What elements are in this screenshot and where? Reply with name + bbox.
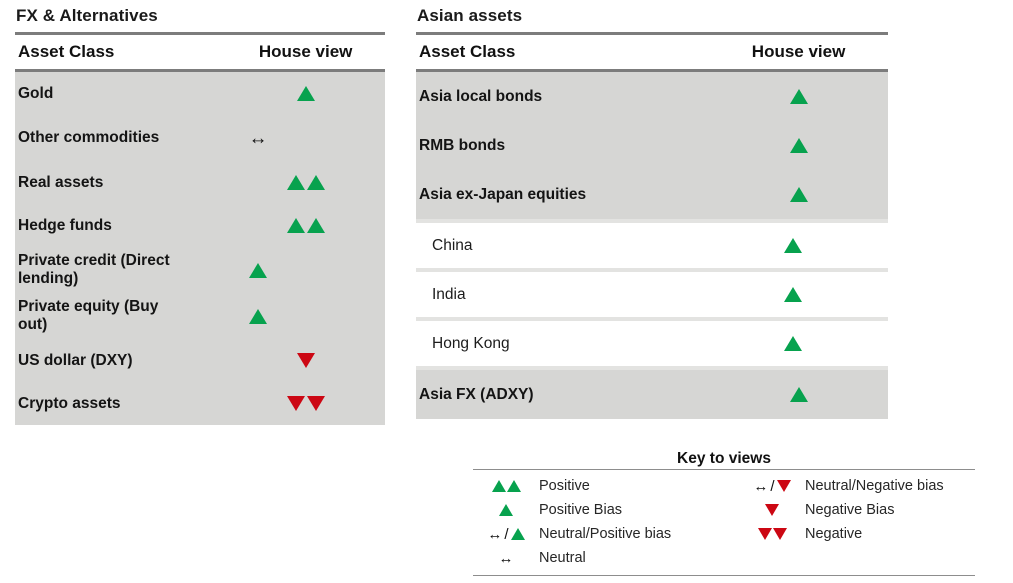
legend-symbol bbox=[473, 474, 539, 498]
down-triangle-icon bbox=[765, 504, 779, 516]
right-table-title: Asian assets bbox=[417, 6, 888, 26]
key-to-views-legend: Key to views Positive↔/Neutral/Negative … bbox=[473, 450, 975, 576]
row-house-view bbox=[699, 287, 888, 302]
row-house-view bbox=[699, 336, 888, 351]
row-label: Other commodities bbox=[15, 129, 178, 147]
row-house-view bbox=[709, 387, 888, 402]
row-label: Asia FX (ADXY) bbox=[416, 386, 709, 404]
table-row: US dollar (DXY) bbox=[15, 339, 385, 382]
right-col-asset-class: Asset Class bbox=[416, 42, 709, 62]
legend-symbol bbox=[739, 498, 805, 522]
down-triangle-icon bbox=[777, 480, 791, 492]
symbol-positive-bias bbox=[249, 309, 267, 324]
up-triangle-icon bbox=[307, 175, 325, 190]
symbol-positive-bias bbox=[790, 387, 808, 402]
left-right-arrow-icon: ↔ bbox=[487, 527, 502, 542]
legend-label: Neutral bbox=[539, 546, 739, 570]
up-triangle-icon bbox=[790, 187, 808, 202]
symbol-negative bbox=[287, 396, 325, 411]
legend-entries: Positive↔/Neutral/Negative biasPositive … bbox=[473, 470, 975, 575]
row-label: RMB bonds bbox=[416, 137, 709, 155]
row-label: Private equity (Buy out) bbox=[15, 298, 178, 334]
left-right-arrow-icon: ↔ bbox=[753, 479, 768, 494]
row-label: Hedge funds bbox=[15, 217, 226, 235]
row-house-view bbox=[699, 238, 888, 253]
row-house-view bbox=[178, 309, 338, 324]
left-table-body: GoldOther commodities↔Real assetsHedge f… bbox=[15, 72, 385, 425]
right-col-house-view: House view bbox=[709, 42, 888, 62]
up-triangle-icon bbox=[287, 218, 305, 233]
down-triangle-icon bbox=[297, 353, 315, 368]
left-col-asset-class: Asset Class bbox=[15, 42, 226, 62]
legend-symbol: ↔/ bbox=[473, 522, 539, 546]
symbol-positive-bias bbox=[297, 86, 315, 101]
legend-label: Negative bbox=[805, 522, 975, 546]
table-row: Real assets bbox=[15, 161, 385, 204]
left-table-title: FX & Alternatives bbox=[16, 6, 385, 26]
legend-label: Negative Bias bbox=[805, 498, 975, 522]
down-triangle-icon bbox=[773, 528, 787, 540]
left-col-house-view: House view bbox=[226, 42, 385, 62]
legend-title: Key to views bbox=[473, 450, 975, 467]
symbol-positive bbox=[492, 480, 521, 492]
row-house-view bbox=[226, 218, 385, 233]
symbol-negative-bias bbox=[297, 353, 315, 368]
up-triangle-icon bbox=[249, 309, 267, 324]
row-house-view bbox=[709, 138, 888, 153]
row-label: Gold bbox=[15, 85, 226, 103]
table-row: Gold bbox=[15, 72, 385, 115]
symbol-neutral: ↔ bbox=[499, 551, 514, 566]
legend-label: Neutral/Negative bias bbox=[805, 474, 975, 498]
up-triangle-icon bbox=[287, 175, 305, 190]
row-house-view bbox=[226, 86, 385, 101]
legend-label: Positive bbox=[539, 474, 739, 498]
table-row: Asia ex-Japan equities bbox=[416, 170, 888, 219]
up-triangle-icon bbox=[297, 86, 315, 101]
symbol-neutral: ↔ bbox=[249, 129, 268, 148]
table-row: Crypto assets bbox=[15, 382, 385, 425]
table-row: Asia local bonds bbox=[416, 72, 888, 121]
table-row: Private credit (Direct lending) bbox=[15, 247, 385, 293]
slash-separator: / bbox=[770, 478, 774, 495]
up-triangle-icon bbox=[249, 263, 267, 278]
symbol-positive bbox=[287, 175, 325, 190]
table-subrow: India bbox=[416, 272, 888, 317]
row-label: Asia local bonds bbox=[416, 88, 709, 106]
row-house-view bbox=[226, 396, 385, 411]
up-triangle-icon bbox=[784, 287, 802, 302]
symbol-positive-bias bbox=[790, 187, 808, 202]
symbol-negative-bias bbox=[765, 504, 779, 516]
row-label: Real assets bbox=[15, 174, 226, 192]
up-triangle-icon bbox=[499, 504, 513, 516]
symbol-neutral-negative: ↔/ bbox=[753, 478, 790, 495]
legend-symbol bbox=[473, 498, 539, 522]
symbol-positive-bias bbox=[790, 89, 808, 104]
table-subrow: China bbox=[416, 223, 888, 268]
symbol-neutral-positive: ↔/ bbox=[487, 526, 524, 543]
symbol-positive-bias bbox=[249, 263, 267, 278]
table-row: RMB bonds bbox=[416, 121, 888, 170]
up-triangle-icon bbox=[492, 480, 506, 492]
table-row: Asia FX (ADXY) bbox=[416, 370, 888, 419]
row-label: China bbox=[416, 237, 699, 255]
table-subrow: Hong Kong bbox=[416, 321, 888, 366]
left-right-arrow-icon: ↔ bbox=[499, 551, 514, 566]
row-house-view bbox=[178, 263, 338, 278]
up-triangle-icon bbox=[307, 218, 325, 233]
up-triangle-icon bbox=[790, 89, 808, 104]
legend-bottom-rule bbox=[473, 575, 975, 576]
row-house-view bbox=[226, 353, 385, 368]
up-triangle-icon bbox=[790, 387, 808, 402]
row-label: Crypto assets bbox=[15, 395, 226, 413]
left-right-arrow-icon: ↔ bbox=[249, 129, 268, 148]
up-triangle-icon bbox=[507, 480, 521, 492]
left-table-column-headers: Asset Class House view bbox=[15, 35, 385, 69]
legend-symbol: ↔/ bbox=[739, 474, 805, 498]
symbol-positive-bias bbox=[499, 504, 513, 516]
row-house-view bbox=[226, 175, 385, 190]
symbol-negative bbox=[758, 528, 787, 540]
legend-symbol bbox=[739, 546, 805, 570]
legend-symbol bbox=[739, 522, 805, 546]
row-house-view: ↔ bbox=[178, 129, 338, 148]
slash-separator: / bbox=[504, 526, 508, 543]
symbol-positive-bias bbox=[784, 336, 802, 351]
right-table-column-headers: Asset Class House view bbox=[416, 35, 888, 69]
row-label: Private credit (Direct lending) bbox=[15, 252, 178, 288]
row-label: Hong Kong bbox=[416, 335, 699, 353]
down-triangle-icon bbox=[287, 396, 305, 411]
legend-label: Neutral/Positive bias bbox=[539, 522, 739, 546]
fx-alternatives-table: FX & Alternatives Asset Class House view… bbox=[15, 6, 385, 425]
legend-label: Positive Bias bbox=[539, 498, 739, 522]
legend-symbol: ↔ bbox=[473, 546, 539, 570]
row-label: US dollar (DXY) bbox=[15, 352, 226, 370]
up-triangle-icon bbox=[784, 238, 802, 253]
symbol-positive-bias bbox=[790, 138, 808, 153]
down-triangle-icon bbox=[307, 396, 325, 411]
row-house-view bbox=[709, 89, 888, 104]
row-label: Asia ex-Japan equities bbox=[416, 186, 709, 204]
symbol-positive bbox=[287, 218, 325, 233]
symbol-positive-bias bbox=[784, 238, 802, 253]
right-table-body: Asia local bondsRMB bondsAsia ex-Japan e… bbox=[416, 72, 888, 419]
up-triangle-icon bbox=[784, 336, 802, 351]
symbol-positive-bias bbox=[784, 287, 802, 302]
asian-assets-table: Asian assets Asset Class House view Asia… bbox=[416, 6, 888, 419]
up-triangle-icon bbox=[790, 138, 808, 153]
table-row: Hedge funds bbox=[15, 204, 385, 247]
up-triangle-icon bbox=[511, 528, 525, 540]
down-triangle-icon bbox=[758, 528, 772, 540]
table-row: Private equity (Buy out) bbox=[15, 293, 385, 339]
row-label: India bbox=[416, 286, 699, 304]
table-row: Other commodities↔ bbox=[15, 115, 385, 161]
row-house-view bbox=[709, 187, 888, 202]
